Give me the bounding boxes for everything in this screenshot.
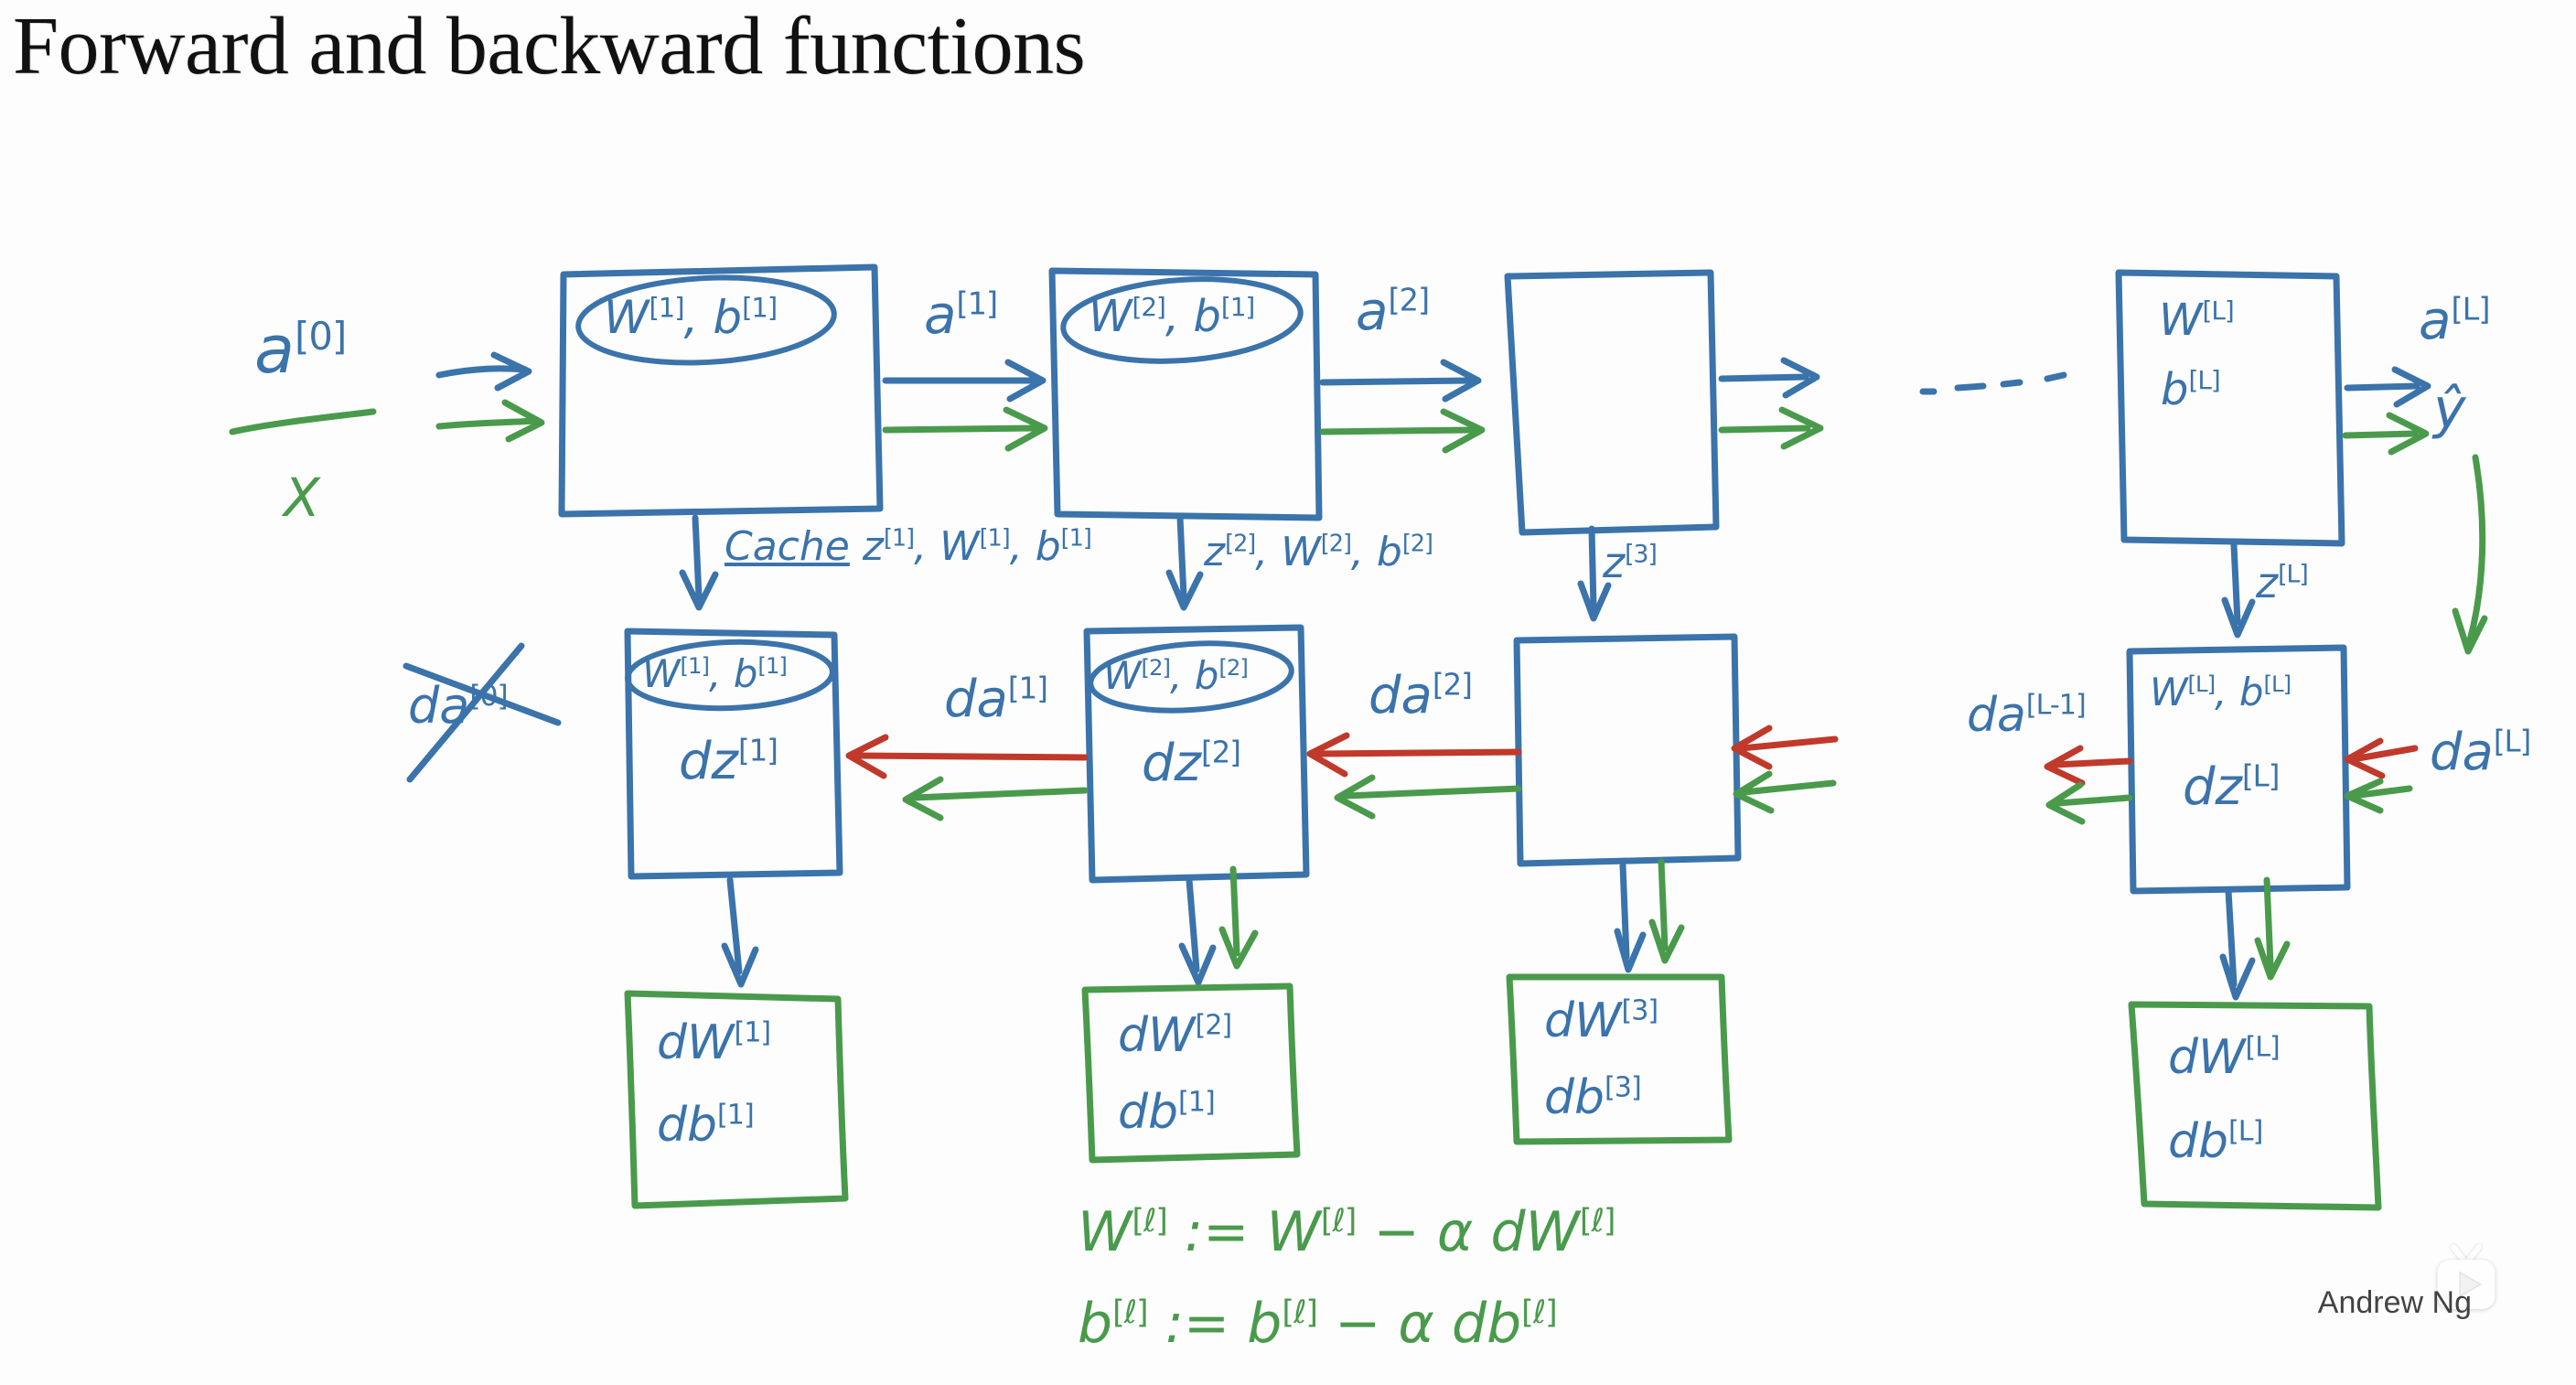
forward-arrow-L: [2345, 370, 2428, 452]
grad-arrow-2: [1182, 869, 1255, 982]
author-watermark: Andrew Ng: [2318, 1285, 2472, 1321]
backward-box-2-dz: dz[2]: [1142, 734, 1240, 793]
forward-arrow-2: [1323, 362, 1482, 450]
backward-box-1-dz: dz[1]: [679, 732, 778, 791]
forward-output-yhat: ŷ: [2433, 377, 2466, 441]
forward-activation-1: a[1]: [924, 284, 997, 346]
backward-arrow-2-to-1: [849, 737, 1085, 818]
backward-box-L-params: W[L], b[L]: [2150, 670, 2291, 714]
backward-grad-label-L-1: da[L-1]: [1967, 688, 2086, 743]
output-3-dW: dW[3]: [1544, 993, 1658, 1048]
input-underline: [232, 412, 373, 432]
backward-box-2-params: W[2], b[2]: [1103, 653, 1248, 698]
backward-box-1-params: W[1], b[1]: [642, 651, 787, 696]
forward-input-activation: a[0]: [254, 311, 346, 388]
forward-input-alias: X: [284, 467, 320, 529]
cache-arrow-L: [2225, 545, 2252, 635]
update-rule-b: b[ℓ] := b[ℓ] − α db[ℓ]: [1078, 1292, 1557, 1356]
cache-arrow-1: [682, 518, 715, 607]
cache-arrow-2: [1169, 518, 1200, 607]
forward-box-2-params: W[2], b[1]: [1089, 291, 1254, 342]
cache-label-3: z[3]: [1603, 538, 1657, 587]
grad-arrow-1: [724, 880, 756, 984]
grad-arrow-3: [1617, 862, 1681, 970]
forward-box-3[interactable]: [1508, 273, 1716, 532]
yhat-to-da-curve: [2455, 457, 2485, 651]
backward-box-L-dz: dz[L]: [2183, 757, 2279, 817]
output-2-db: db[1]: [1118, 1085, 1215, 1140]
grad-arrow-L: [2223, 880, 2287, 997]
output-2-dW: dW[2]: [1118, 1008, 1231, 1063]
backward-arrow-L-out: [2047, 748, 2130, 821]
cache-label-L: z[L]: [2256, 558, 2308, 607]
forward-arrow-1: [885, 362, 1045, 448]
forward-arrow-in: [439, 355, 542, 439]
update-rule-w: W[ℓ] := W[ℓ] − α dW[ℓ]: [1078, 1200, 1615, 1264]
backward-arrow-L-in: [2347, 741, 2415, 811]
backward-box-3[interactable]: [1517, 637, 1738, 864]
forward-box-L-params-b: b[L]: [2161, 364, 2220, 415]
output-1-dW: dW[1]: [657, 1015, 770, 1070]
output-L-dW: dW[L]: [2168, 1030, 2280, 1085]
slide-canvas: Forward and backward functions: [0, 0, 2576, 1385]
forward-activation-L: a[L]: [2419, 289, 2490, 351]
forward-box-L-params-w: W[L]: [2159, 295, 2234, 346]
cache-label-2: z[2], W[2], b[2]: [1204, 529, 1433, 575]
backward-grad-label-L: da[L]: [2430, 723, 2530, 782]
cache-label-1: Cache z[1], W[1], b[1]: [724, 523, 1091, 570]
backward-arrow-into-3: [1734, 728, 1835, 811]
forward-arrow-3: [1722, 360, 1820, 446]
forward-activation-2: a[2]: [1356, 280, 1429, 342]
output-3-db: db[3]: [1544, 1070, 1641, 1125]
output-1-db: db[1]: [657, 1098, 754, 1153]
forward-box-1-params: W[1], b[1]: [604, 291, 777, 344]
tv-play-icon: Andrew Ng: [2424, 1242, 2508, 1315]
output-L-db: db[L]: [2168, 1114, 2262, 1169]
backward-arrow-3-to-2: [1310, 735, 1519, 816]
backward-da0-crossed: da[0]: [408, 677, 508, 735]
backward-grad-label-1: da[1]: [944, 670, 1047, 729]
backward-grad-label-2: da[2]: [1368, 666, 1472, 725]
